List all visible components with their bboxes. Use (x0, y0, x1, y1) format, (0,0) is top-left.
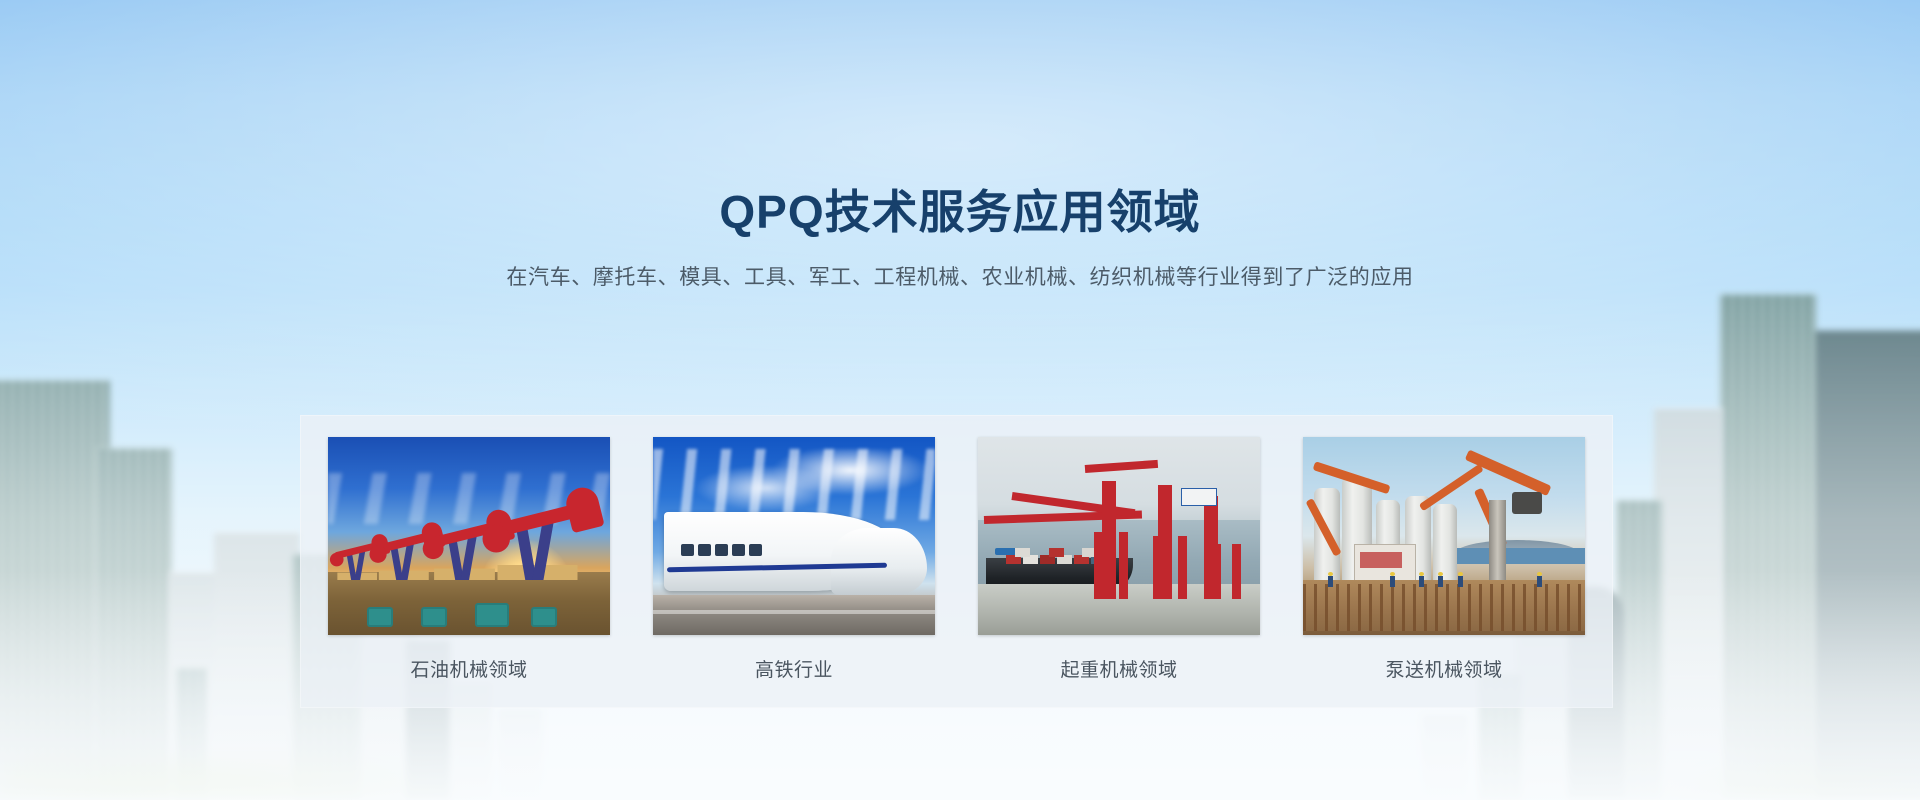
high-speed-train-photo[interactable] (653, 437, 935, 635)
hero-banner: QPQ技术服务应用领域 在汽车、摩托车、模具、工具、军工、工程机械、农业机械、纺… (0, 0, 1920, 800)
list-item-label: 泵送机械领域 (1385, 655, 1502, 682)
list-item[interactable]: 石油机械领域 (328, 437, 610, 708)
heading-group: QPQ技术服务应用领域 在汽车、摩托车、模具、工具、军工、工程机械、农业机械、纺… (0, 186, 1920, 291)
page-title: QPQ技术服务应用领域 (0, 186, 1920, 239)
list-item-label: 高铁行业 (755, 655, 833, 682)
page-subtitle: 在汽车、摩托车、模具、工具、军工、工程机械、农业机械、纺织机械等行业得到了广泛的… (0, 261, 1920, 291)
port-gantry-cranes-photo[interactable] (978, 437, 1260, 635)
list-item[interactable]: 高铁行业 (653, 437, 935, 708)
application-fields-panel: 石油机械领域 (300, 415, 1613, 708)
oil-pumpjacks-photo[interactable] (328, 437, 610, 635)
card-list: 石油机械领域 (300, 415, 1613, 708)
list-item[interactable]: 起重机械领域 (978, 437, 1260, 708)
list-item-label: 起重机械领域 (1060, 655, 1177, 682)
list-item[interactable]: 泵送机械领域 (1303, 437, 1585, 708)
concrete-pump-site-photo[interactable] (1303, 437, 1585, 635)
list-item-label: 石油机械领域 (410, 655, 527, 682)
